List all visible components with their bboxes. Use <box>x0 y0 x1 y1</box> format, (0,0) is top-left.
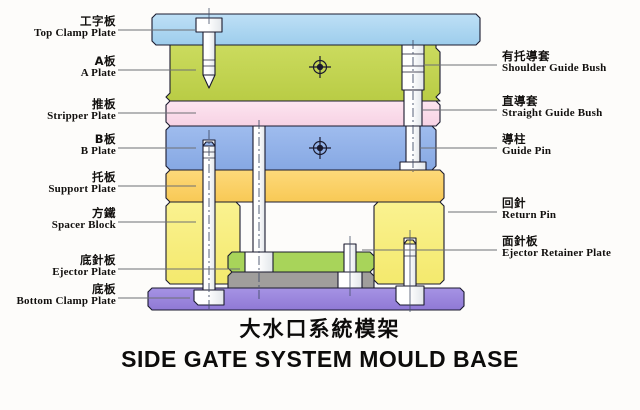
cap-screw-top-shank <box>203 32 215 75</box>
label-ejector-plate-cn: 底針板 <box>52 255 116 267</box>
label-spacer-block-en: Spacer Block <box>52 220 116 231</box>
label-support-plate-cn: 托板 <box>48 172 116 184</box>
label-guide-pin-en: Guide Pin <box>502 146 551 157</box>
label-return-pin-cn: 回針 <box>502 198 556 210</box>
label-spacer-block-cn: 方鐵 <box>52 208 116 220</box>
label-straight-guide-bush-cn: 直導套 <box>502 96 602 108</box>
mould-base-diagram: 工字板 Top Clamp Plate A板 A Plate 推板 Stripp… <box>0 0 640 410</box>
diagram-title-english: SIDE GATE SYSTEM MOULD BASE <box>0 346 640 373</box>
label-bottom-clamp-plate: 底板 Bottom Clamp Plate <box>16 284 116 307</box>
label-b-plate-en: B Plate <box>81 146 116 157</box>
label-straight-guide-bush: 直導套 Straight Guide Bush <box>502 96 602 119</box>
label-guide-pin: 導柱 Guide Pin <box>502 134 551 157</box>
diagram-title-chinese: 大水口系統模架 <box>0 313 640 343</box>
label-a-plate: A板 A Plate <box>81 56 116 79</box>
label-support-plate: 托板 Support Plate <box>48 172 116 195</box>
label-stripper-plate: 推板 Stripper Plate <box>47 99 116 122</box>
label-b-plate-cn: B板 <box>81 134 116 146</box>
label-shoulder-guide-bush-en: Shoulder Guide Bush <box>502 63 606 74</box>
label-shoulder-guide-bush-cn: 有托導套 <box>502 51 606 63</box>
label-a-plate-en: A Plate <box>81 68 116 79</box>
label-ejector-retainer-plate: 面針板 Ejector Retainer Plate <box>502 236 611 259</box>
label-bottom-clamp-plate-cn: 底板 <box>16 284 116 296</box>
label-straight-guide-bush-en: Straight Guide Bush <box>502 108 602 119</box>
label-b-plate: B板 B Plate <box>81 134 116 157</box>
label-a-plate-cn: A板 <box>81 56 116 68</box>
label-return-pin: 回針 Return Pin <box>502 198 556 221</box>
label-stripper-plate-cn: 推板 <box>47 99 116 111</box>
label-top-clamp-plate: 工字板 Top Clamp Plate <box>34 16 116 39</box>
plate-stripper <box>166 101 440 126</box>
label-support-plate-en: Support Plate <box>48 184 116 195</box>
label-guide-pin-cn: 導柱 <box>502 134 551 146</box>
label-ejector-retainer-plate-en: Ejector Retainer Plate <box>502 248 611 259</box>
shoulder-guide-bush <box>402 45 424 90</box>
label-ejector-plate: 底針板 Ejector Plate <box>52 255 116 278</box>
label-bottom-clamp-plate-en: Bottom Clamp Plate <box>16 296 116 307</box>
label-top-clamp-plate-en: Top Clamp Plate <box>34 28 116 39</box>
diagram-title: 大水口系統模架 SIDE GATE SYSTEM MOULD BASE <box>0 313 640 373</box>
label-ejector-retainer-plate-cn: 面針板 <box>502 236 611 248</box>
label-spacer-block: 方鐵 Spacer Block <box>52 208 116 231</box>
label-top-clamp-plate-cn: 工字板 <box>34 16 116 28</box>
label-shoulder-guide-bush: 有托導套 Shoulder Guide Bush <box>502 51 606 74</box>
label-return-pin-en: Return Pin <box>502 210 556 221</box>
label-ejector-plate-en: Ejector Plate <box>52 267 116 278</box>
label-stripper-plate-en: Stripper Plate <box>47 111 116 122</box>
